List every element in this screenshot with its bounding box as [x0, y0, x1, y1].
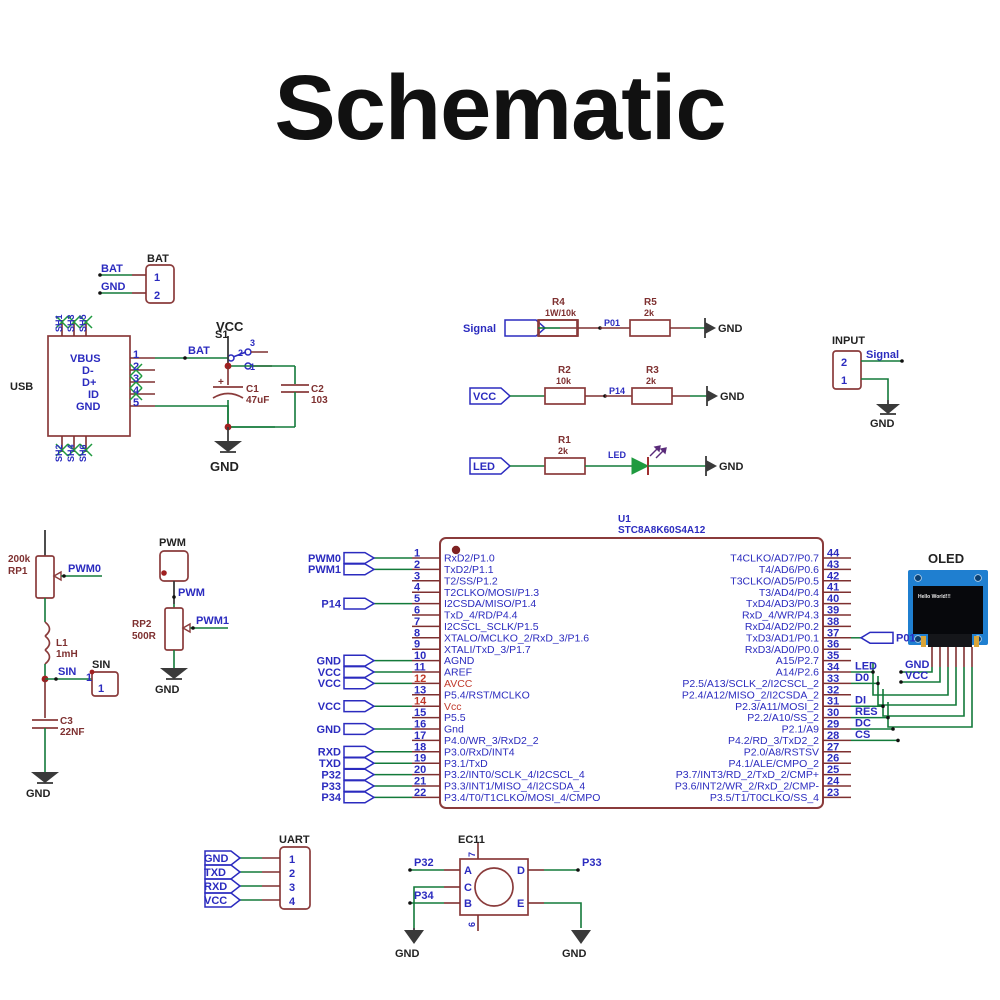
r2-value: 10k [556, 376, 572, 386]
mcu-left-pin-number: 2 [414, 559, 420, 571]
encoder-pin-a: A [464, 865, 472, 877]
net-label-p01-divider: P01 [604, 318, 620, 328]
usb-pin-num-1: 1 [133, 349, 139, 361]
uart-designator: UART [279, 834, 310, 846]
encoder-pin-c: C [464, 882, 472, 894]
mcu-left-port-group: PWM0PWM1P14GNDVCCVCCVCCGNDRXDTXDP32P33P3… [308, 553, 374, 805]
uart-pin-2: 2 [289, 868, 295, 880]
mcu-left-net-port[interactable] [344, 678, 374, 689]
r3-designator: R3 [646, 365, 659, 376]
usb-shield-sh4: SH4 [66, 444, 76, 462]
l1-value: 1mH [56, 649, 78, 660]
gnd-label-divider-signal: GND [718, 323, 743, 335]
input-connector-designator: INPUT [832, 335, 865, 347]
net-label-p14-divider: P14 [609, 386, 625, 396]
mcu-right-net-junction [896, 739, 900, 743]
usb-pin-num-3: 3 [133, 373, 139, 385]
mcu-right-pin-name: RxD_4/WR/P4.3 [742, 610, 819, 622]
usb-pin-num-2: 2 [133, 361, 139, 373]
mcu-left-net-label: P34 [321, 792, 341, 804]
bat-pin-2: 2 [154, 290, 160, 302]
c1-value: 47uF [246, 395, 269, 406]
mcu-right-pin-name: TxD3/AD1/P0.1 [746, 632, 819, 644]
mcu-right-pin-name: P2.0/A8/RSTSV [744, 746, 819, 758]
r1-value: 2k [558, 446, 569, 456]
net-label-signal-input: Signal [866, 349, 899, 361]
gnd-label-divider-vcc: GND [720, 391, 745, 403]
usb-pin-name-dm: D- [82, 365, 94, 377]
c1-designator: C1 [246, 384, 259, 395]
mcu-left-net-port[interactable] [344, 701, 374, 712]
usb-pin-num-5: 5 [133, 397, 139, 409]
uart-net-rxd: RXD [204, 881, 227, 893]
r5-value: 2k [644, 308, 655, 318]
mcu-left-pin-name: AREF [444, 667, 472, 679]
mcu-right-pin-name: P3.5/T1/T0CLKO/SS_4 [710, 792, 819, 804]
encoder-pin-6: 6 [467, 922, 477, 927]
c3-designator: C3 [60, 716, 73, 727]
mcu-right-pin-name: P3.6/INT2/WR_2/RxD_2/CMP- [675, 781, 820, 793]
mcu-right-pin-group: 44T4CLKO/AD7/P0.743T4/AD6/P0.642T3CLKO/A… [675, 548, 851, 805]
mcu-right-pin-number: 31 [827, 696, 839, 708]
usb-pin-name-dp: D+ [82, 377, 96, 389]
mcu-right-net-label: P01 [896, 633, 916, 645]
s1-pin-3: 3 [250, 338, 255, 348]
usb-shield-sh2: SH2 [54, 444, 64, 462]
mcu-left-pin-name: P5.5 [444, 712, 466, 724]
mcu-left-net-label: RXD [318, 747, 341, 759]
mcu-left-net-label: PWM1 [308, 564, 341, 576]
mcu-left-net-port[interactable] [344, 746, 374, 757]
mcu-left-pin-name: Vcc [444, 701, 462, 713]
mcu-left-pin-number: 13 [414, 684, 426, 696]
uart-net-gnd: GND [204, 853, 229, 865]
mcu-left-pin-number: 15 [414, 707, 426, 719]
uart-net-txd: TXD [204, 867, 226, 879]
s1-pin-1: 1 [250, 362, 255, 372]
c3-value: 22NF [60, 727, 84, 738]
encoder-net-p32: P32 [414, 857, 434, 869]
schematic-text-layer: BAT BAT GND 1 2 USB VBUS D- D+ ID GND 1 … [0, 0, 1000, 1000]
rp2-designator: RP2 [132, 619, 152, 630]
encoder-pin-7: 7 [467, 852, 477, 857]
mcu-left-net-label: GND [317, 724, 342, 736]
mcu-right-pin-number: 32 [827, 684, 839, 696]
mcu-right-pin-name: T3/AD4/P0.4 [759, 587, 819, 599]
mcu-left-pin-number: 17 [414, 730, 426, 742]
schematic-page: Schematic [0, 0, 1000, 1000]
oled-title: OLED [928, 551, 964, 566]
uart-net-vcc: VCC [204, 895, 227, 907]
mcu-right-pin-name: P4.2/RD_3/TxD2_2 [728, 735, 819, 747]
mcu-right-net-label: D0 [855, 672, 869, 684]
mcu-left-net-label: VCC [318, 701, 341, 713]
mcu-right-pin-name: RxD3/AD0/P0.0 [745, 644, 819, 656]
mcu-left-pin-name: P3.4/T0/T1CLKO/MOSI_4/CMPO [444, 792, 600, 804]
led-symbol-label: LED [608, 450, 627, 460]
mcu-right-pin-name: TxD4/AD3/P0.3 [746, 598, 819, 610]
mcu-left-pin-number: 4 [414, 582, 421, 594]
bat-connector-designator: BAT [147, 253, 169, 265]
mcu-right-pin-number: 40 [827, 593, 839, 605]
mcu-left-pin-number: 16 [414, 719, 426, 731]
gnd-label-input: GND [870, 418, 895, 430]
mcu-left-pin-number: 1 [414, 548, 420, 560]
gnd-label-led: GND [719, 461, 744, 473]
mcu-left-net-port[interactable] [344, 758, 374, 769]
mcu-right-pin-number: 35 [827, 650, 839, 662]
mcu-left-pin-name: TxD2/P1.1 [444, 564, 494, 576]
mcu-left-net-port[interactable] [344, 769, 374, 780]
mcu-left-pin-name: P3.3/INT1/MISO_4/I2CSDA_4 [444, 781, 585, 793]
mcu-left-pin-name: Gnd [444, 724, 464, 736]
mcu-right-net-label: DI [855, 695, 866, 707]
mcu-left-pin-number: 6 [414, 605, 420, 617]
mcu-left-net-label: GND [317, 655, 342, 667]
mcu-left-net-port[interactable] [344, 724, 374, 735]
mcu-left-pin-group: 1RxD2/P1.02TxD2/P1.13T2/SS/P1.24T2CLKO/M… [374, 548, 600, 805]
mcu-left-pin-name: AVCC [444, 678, 473, 690]
encoder-net-p34: P34 [414, 890, 434, 902]
mcu-right-pin-name: P3.7/INT3/RD_2/TxD_2/CMP+ [676, 769, 819, 781]
usb-pin-name-vbus: VBUS [70, 353, 101, 365]
mcu-left-pin-name: I2CSCL_SCLK/P1.5 [444, 621, 539, 633]
mcu-right-pin-number: 30 [827, 707, 839, 719]
mcu-right-pin-number: 25 [827, 764, 839, 776]
port-label-vcc-divider: VCC [473, 391, 496, 403]
mcu-right-pin-number: 44 [827, 548, 840, 560]
mcu-right-pin-number: 26 [827, 753, 839, 765]
usb-shield-sh1: SH1 [54, 314, 64, 332]
mcu-right-pin-name: P2.1/A9 [782, 724, 820, 736]
mcu-right-pin-number: 34 [827, 662, 840, 674]
input-pin-1: 1 [841, 375, 847, 387]
mcu-part-number: STC8A8K60S4A12 [618, 525, 706, 536]
r4-designator: R4 [552, 297, 565, 308]
mcu-right-pin-name: P2.3/A11/MOSI_2 [735, 701, 819, 713]
net-label-pwm1: PWM1 [196, 615, 229, 627]
mcu-right-pin-number: 37 [827, 627, 839, 639]
mcu-left-pin-name: XTALI/TxD_3/P1.7 [444, 644, 531, 656]
mcu-left-net-label: PWM0 [308, 553, 341, 565]
oled-net-vcc: VCC [905, 670, 928, 682]
mcu-left-pin-name: I2CSDA/MISO/P1.4 [444, 598, 536, 610]
usb-designator: USB [10, 381, 33, 393]
mcu-right-pin-name: A14/P2.6 [776, 667, 819, 679]
mcu-left-pin-number: 20 [414, 764, 426, 776]
mcu-left-net-port[interactable] [344, 598, 374, 609]
uart-pin-4: 4 [289, 896, 296, 908]
r5-designator: R5 [644, 297, 657, 308]
mcu-right-pin-number: 28 [827, 730, 839, 742]
mcu-right-pin-number: 42 [827, 570, 839, 582]
mcu-left-net-label: VCC [318, 667, 341, 679]
mcu-left-pin-number: 8 [414, 627, 420, 639]
net-label-vcc-rail: VCC [216, 319, 244, 334]
r2-designator: R2 [558, 365, 571, 376]
usb-shield-sh3: SH3 [66, 314, 76, 332]
usb-shield-sh5: SH5 [78, 314, 88, 332]
mcu-left-pin-number: 10 [414, 650, 426, 662]
r1-designator: R1 [558, 435, 571, 446]
sin-connector-designator: SIN [92, 659, 110, 671]
net-label-pwm0: PWM0 [68, 563, 101, 575]
mcu-right-pin-name: T4CLKO/AD7/P0.7 [730, 553, 819, 565]
mcu-right-pin-name: P2.5/A13/SCLK_2/I2CSCL_2 [682, 678, 819, 690]
gnd-label-power: GND [210, 459, 239, 474]
port-label-led: LED [473, 461, 495, 473]
mcu-left-net-label: P32 [321, 769, 341, 781]
mcu-left-net-label: P33 [321, 781, 341, 793]
mcu-left-pin-number: 22 [414, 787, 426, 799]
mcu-left-net-port[interactable] [344, 667, 374, 678]
mcu-right-net-junction [881, 704, 885, 708]
mcu-left-pin-name: P3.2/INT0/SCLK_4/I2CSCL_4 [444, 769, 585, 781]
mcu-right-pin-number: 27 [827, 741, 839, 753]
mcu-left-pin-number: 12 [414, 673, 426, 685]
uart-pin-1: 1 [289, 854, 295, 866]
mcu-left-pin-name: P5.4/RST/MCLKO [444, 689, 530, 701]
usb-shield-sh6: SH6 [78, 444, 88, 462]
mcu-right-pin-name: P4.1/ALE/CMPO_2 [729, 758, 820, 770]
mcu-right-net-junction [886, 716, 890, 720]
mcu-left-pin-number: 7 [414, 616, 420, 628]
mcu-right-net-label: CS [855, 729, 870, 741]
mcu-right-pin-name: A15/P2.7 [776, 655, 819, 667]
mcu-left-pin-number: 21 [414, 776, 426, 788]
mcu-left-pin-name: P3.0/RxD/INT4 [444, 746, 515, 758]
rp1-designator: RP1 [8, 566, 28, 577]
mcu-left-pin-number: 18 [414, 741, 426, 753]
gnd-label-analog: GND [26, 788, 51, 800]
mcu-right-pin-number: 33 [827, 673, 839, 685]
encoder-pin-b: B [464, 898, 472, 910]
mcu-left-pin-name: AGND [444, 655, 475, 667]
port-label-signal: Signal [463, 323, 496, 335]
mcu-right-pin-number: 36 [827, 639, 839, 651]
mcu-right-net-group: P01LEDD0DIRESDCCS [851, 632, 916, 742]
rp2-value: 500R [132, 631, 157, 642]
r3-value: 2k [646, 376, 657, 386]
pwm-connector-designator: PWM [159, 537, 186, 549]
mcu-right-pin-number: 38 [827, 616, 839, 628]
mcu-left-pin-name: RxD2/P1.0 [444, 553, 495, 565]
mcu-right-pin-number: 23 [827, 787, 839, 799]
mcu-left-pin-name: XTALO/MCLKO_2/RxD_3/P1.6 [444, 632, 589, 644]
gnd-label-encoder-right: GND [562, 948, 587, 960]
encoder-pin-e: E [517, 898, 524, 910]
mcu-designator: U1 [618, 514, 631, 525]
net-label-pwm: PWM [178, 587, 205, 599]
usb-pin-name-gnd: GND [76, 401, 101, 413]
mcu-right-pin-name: P2.4/A12/MISO_2/I2CSDA_2 [682, 689, 819, 701]
mcu-left-pin-number: 3 [414, 570, 420, 582]
uart-pin-3: 3 [289, 882, 295, 894]
c2-designator: C2 [311, 384, 324, 395]
mcu-left-pin-number: 5 [414, 593, 420, 605]
mcu-right-pin-name: T4/AD6/P0.6 [759, 564, 819, 576]
net-label-gnd-bat: GND [101, 281, 126, 293]
mcu-left-net-label: P14 [321, 598, 341, 610]
mcu-left-pin-number: 9 [414, 639, 420, 651]
mcu-right-net-label: DC [855, 718, 871, 730]
c2-value: 103 [311, 395, 328, 406]
gnd-label-encoder-left: GND [395, 948, 420, 960]
mcu-right-net-label: RES [855, 706, 878, 718]
bat-pin-1: 1 [154, 272, 160, 284]
mcu-left-net-port[interactable] [344, 781, 374, 792]
usb-pin-name-id: ID [88, 389, 99, 401]
gnd-label-pwm: GND [155, 684, 180, 696]
encoder-pin-d: D [517, 865, 525, 877]
net-label-bat: BAT [101, 263, 123, 275]
encoder-net-p33: P33 [582, 857, 602, 869]
mcu-left-pin-name: T2/SS/P1.2 [444, 575, 498, 587]
rp1-value: 200k [8, 554, 31, 565]
net-label-sin: SIN [58, 666, 76, 678]
s1-pin-2: 2 [238, 348, 243, 358]
mcu-right-pin-name: T3CLKO/AD5/P0.5 [730, 575, 819, 587]
mcu-left-pin-number: 11 [414, 662, 426, 674]
oled-screen-text: Hello World!!! [918, 594, 951, 600]
usb-pin-num-4: 4 [133, 385, 140, 397]
mcu-left-net-label: VCC [318, 678, 341, 690]
mcu-left-net-port[interactable] [344, 564, 374, 575]
mcu-left-net-port[interactable] [344, 655, 374, 666]
input-pin-2: 2 [841, 357, 847, 369]
sin-pin-label: 1 [86, 672, 92, 684]
mcu-right-pin-number: 24 [827, 776, 840, 788]
mcu-left-pin-number: 19 [414, 753, 426, 765]
mcu-right-net-port[interactable] [861, 632, 893, 643]
mcu-right-net-label: LED [855, 661, 877, 673]
mcu-right-pin-number: 29 [827, 719, 839, 731]
mcu-right-pin-number: 39 [827, 605, 839, 617]
sin-pin-num: 1 [98, 683, 104, 695]
mcu-left-net-port[interactable] [344, 553, 374, 564]
net-label-bat-rail: BAT [188, 345, 210, 357]
encoder-designator: EC11 [458, 834, 485, 846]
r4-value: 1W/10k [545, 308, 577, 318]
mcu-left-pin-number: 14 [414, 696, 427, 708]
mcu-left-pin-name: P3.1/TxD [444, 758, 488, 770]
l1-designator: L1 [56, 638, 68, 649]
mcu-right-pin-name: RxD4/AD2/P0.2 [745, 621, 819, 633]
mcu-right-pin-number: 43 [827, 559, 839, 571]
mcu-right-net-junction [876, 682, 880, 686]
mcu-right-net-junction [891, 727, 895, 731]
mcu-right-pin-name: P2.2/A10/SS_2 [747, 712, 819, 724]
mcu-left-pin-name: P4.0/WR_3/RxD2_2 [444, 735, 539, 747]
mcu-left-net-label: TXD [319, 758, 341, 770]
mcu-left-pin-name: TxD_4/RD/P4.4 [444, 610, 518, 622]
mcu-left-net-port[interactable] [344, 792, 374, 803]
mcu-left-pin-name: T2CLKO/MOSI/P1.3 [444, 587, 539, 599]
mcu-right-pin-number: 41 [827, 582, 839, 594]
